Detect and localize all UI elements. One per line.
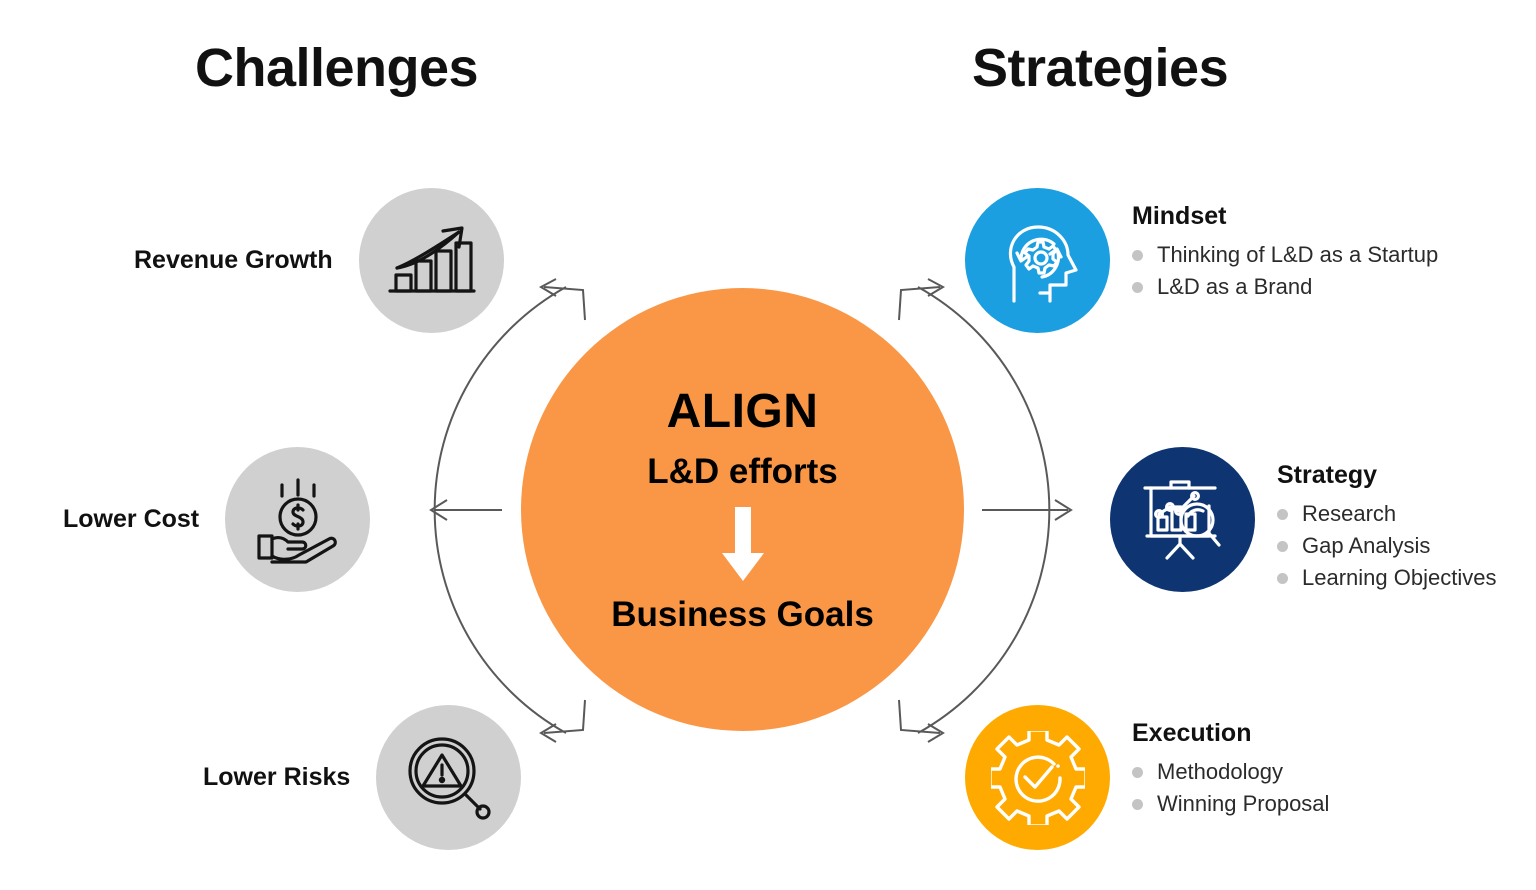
gear-check-icon: [991, 731, 1085, 825]
bullet-label: Methodology: [1157, 759, 1283, 785]
challenge-label: Lower Cost: [63, 505, 199, 534]
strategy-text-block: Execution Methodology Winning Proposal: [1132, 705, 1329, 823]
magnifier-warning-icon: [405, 734, 493, 822]
list-item: Research: [1277, 501, 1496, 527]
arrow-upper-left-line: [544, 287, 585, 320]
strategy-bullet-list: Research Gap Analysis Learning Objective…: [1277, 501, 1496, 591]
growth-chart-icon: [386, 221, 476, 301]
challenge-label: Lower Risks: [203, 763, 350, 792]
arrow-lower-right-line: [899, 700, 940, 733]
center-goal: Business Goals: [611, 597, 874, 632]
center-subtitle: L&D efforts: [647, 454, 838, 489]
strategy-icon-bubble: [965, 188, 1110, 333]
bullet-label: Learning Objectives: [1302, 565, 1496, 591]
challenge-icon-bubble: [376, 705, 521, 850]
challenge-item-lower-cost[interactable]: Lower Cost: [63, 447, 370, 592]
bullet-dot-icon: [1277, 509, 1288, 520]
bullet-dot-icon: [1277, 541, 1288, 552]
list-item: Methodology: [1132, 759, 1329, 785]
bullet-dot-icon: [1132, 250, 1143, 261]
arrow-lower-left-head: [541, 724, 556, 742]
hand-holding-coin-icon: [254, 476, 342, 564]
strategy-icon-bubble: [965, 705, 1110, 850]
list-item: Thinking of L&D as a Startup: [1132, 242, 1438, 268]
strategy-title: Strategy: [1277, 461, 1496, 490]
list-item: Winning Proposal: [1132, 791, 1329, 817]
bullet-dot-icon: [1132, 282, 1143, 293]
arrow-upper-right-line: [899, 287, 940, 320]
challenge-icon-bubble: [225, 447, 370, 592]
challenge-icon-bubble: [359, 188, 504, 333]
page-title-strategies: Strategies: [972, 37, 1228, 99]
center-align-word: ALIGN: [667, 388, 819, 436]
strategy-bullet-list: Methodology Winning Proposal: [1132, 759, 1329, 817]
arrow-middle-left-head: [431, 500, 447, 520]
arrow-down-icon: [720, 507, 766, 583]
bullet-label: Thinking of L&D as a Startup: [1157, 242, 1438, 268]
strategy-icon-bubble: [1110, 447, 1255, 592]
arrow-upper-left-head: [541, 279, 556, 296]
bullet-label: L&D as a Brand: [1157, 274, 1312, 300]
challenge-item-revenue-growth[interactable]: Revenue Growth: [134, 188, 504, 333]
arrow-middle-right-head: [1055, 500, 1071, 520]
diagram-canvas: Challenges Strategies ALIGN L&D efforts: [0, 0, 1536, 890]
bullet-label: Research: [1302, 501, 1396, 527]
challenge-item-lower-risks[interactable]: Lower Risks: [203, 705, 521, 850]
challenge-label: Revenue Growth: [134, 246, 333, 275]
bullet-label: Gap Analysis: [1302, 533, 1430, 559]
head-gear-icon: [992, 215, 1084, 307]
arrow-upper-right-head: [928, 279, 943, 296]
strategy-title: Execution: [1132, 719, 1329, 748]
strategy-title: Mindset: [1132, 202, 1438, 231]
strategy-text-block: Mindset Thinking of L&D as a Startup L&D…: [1132, 188, 1438, 306]
bullet-dot-icon: [1132, 767, 1143, 778]
presentation-analytics-icon: [1137, 474, 1229, 566]
list-item: Gap Analysis: [1277, 533, 1496, 559]
arrow-lower-right-head: [928, 724, 943, 742]
page-title-challenges: Challenges: [195, 37, 478, 99]
list-item: L&D as a Brand: [1132, 274, 1438, 300]
bullet-dot-icon: [1277, 573, 1288, 584]
strategy-item-mindset[interactable]: Mindset Thinking of L&D as a Startup L&D…: [965, 188, 1438, 333]
arrow-lower-left-line: [544, 700, 585, 733]
strategy-item-execution[interactable]: Execution Methodology Winning Proposal: [965, 705, 1329, 850]
list-item: Learning Objectives: [1277, 565, 1496, 591]
strategy-bullet-list: Thinking of L&D as a Startup L&D as a Br…: [1132, 242, 1438, 300]
strategy-text-block: Strategy Research Gap Analysis Learning …: [1277, 447, 1496, 597]
bullet-label: Winning Proposal: [1157, 791, 1329, 817]
center-align-circle: ALIGN L&D efforts Business Goals: [521, 288, 964, 731]
strategy-item-strategy[interactable]: Strategy Research Gap Analysis Learning …: [1110, 447, 1496, 597]
bullet-dot-icon: [1132, 799, 1143, 810]
